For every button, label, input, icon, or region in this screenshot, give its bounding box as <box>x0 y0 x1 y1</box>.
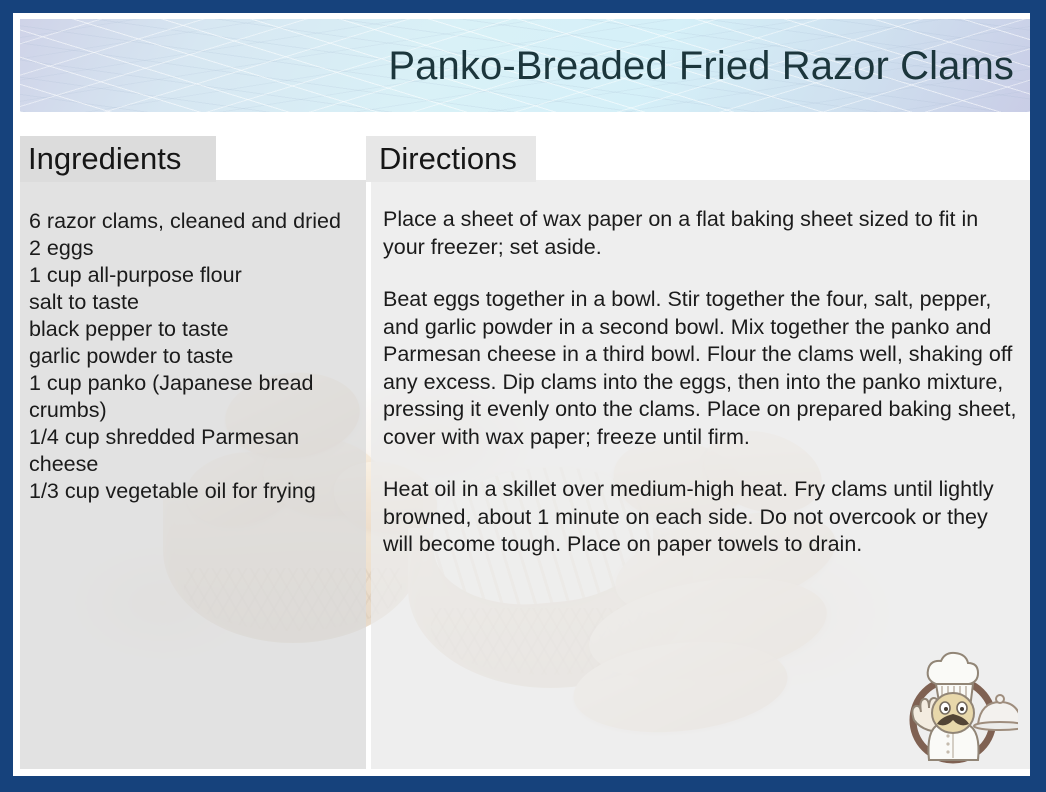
ingredient-item: 1 cup panko (Japanese bread crumbs) <box>29 370 356 424</box>
chef-face <box>932 693 974 733</box>
frame-right-border <box>1030 0 1046 792</box>
ingredient-item: 1 cup all-purpose flour <box>29 262 356 289</box>
direction-paragraph: Beat eggs together in a bowl. Stir toget… <box>383 286 1018 451</box>
direction-paragraph: Heat oil in a skillet over medium-high h… <box>383 476 1018 559</box>
ingredient-list: 6 razor clams, cleaned and dried 2 eggs … <box>29 208 356 505</box>
ingredient-item: black pepper to taste <box>29 316 356 343</box>
section-header-directions: Directions <box>366 136 536 182</box>
ingredient-item: 1/4 cup shredded Parmesan cheese <box>29 424 356 478</box>
page-title: Panko-Breaded Fried Razor Clams <box>388 44 1014 88</box>
recipe-card: Panko-Breaded Fried Razor Clams Ingredie… <box>0 0 1046 792</box>
ingredient-item: salt to taste <box>29 289 356 316</box>
ingredient-item: 2 eggs <box>29 235 356 262</box>
ingredients-panel: 6 razor clams, cleaned and dried 2 eggs … <box>20 180 366 769</box>
title-banner: Panko-Breaded Fried Razor Clams <box>20 19 1030 112</box>
cloche-icon <box>974 695 1018 730</box>
frame-left-border <box>0 0 13 792</box>
direction-paragraph: Place a sheet of wax paper on a flat bak… <box>383 206 1018 261</box>
ingredient-item: 1/3 cup vegetable oil for frying <box>29 478 356 505</box>
card-page: Panko-Breaded Fried Razor Clams Ingredie… <box>13 13 1030 776</box>
frame-bottom-border <box>0 776 1046 792</box>
frame-top-border <box>0 0 1046 13</box>
ingredient-item: garlic powder to taste <box>29 343 356 370</box>
ingredient-item: 6 razor clams, cleaned and dried <box>29 208 356 235</box>
section-header-ingredients: Ingredients <box>20 136 216 182</box>
chef-mascot-logo <box>896 648 1018 768</box>
